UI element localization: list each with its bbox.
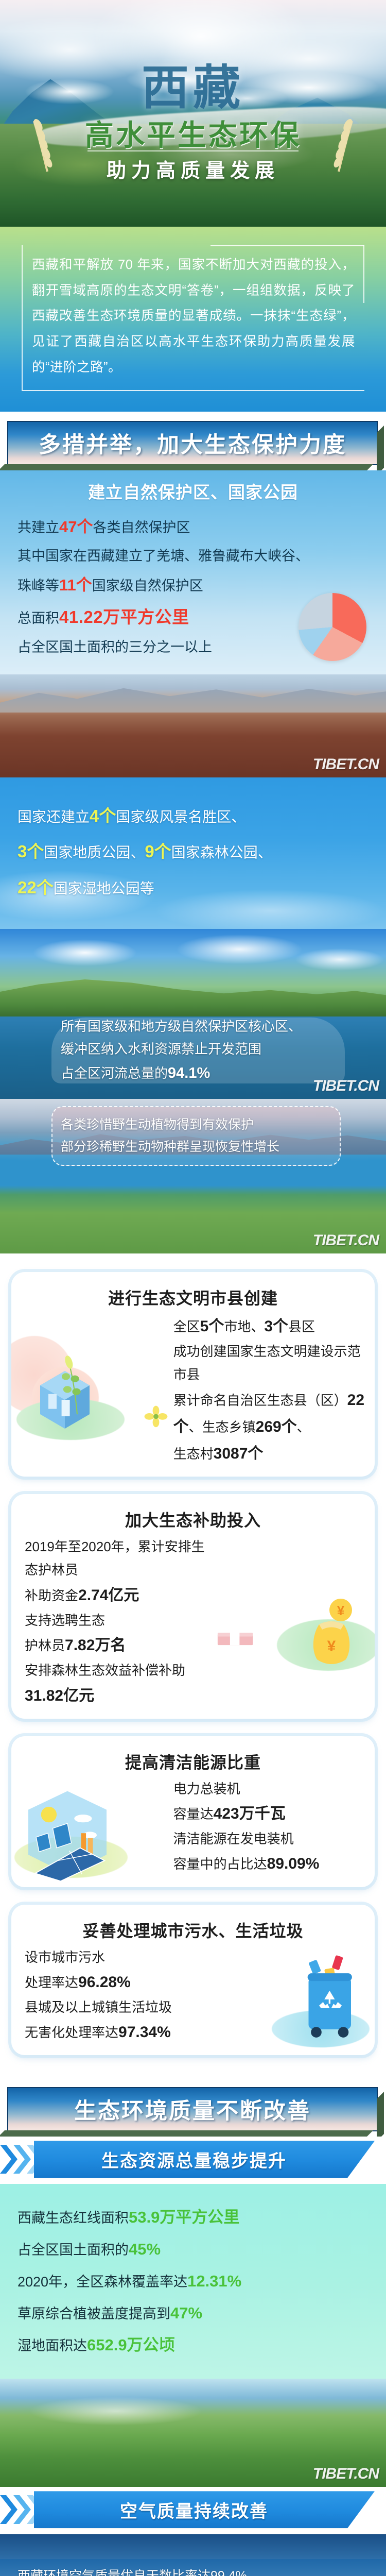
ribbon-resources: 生态资源总量稳步提升 (34, 2141, 375, 2178)
pie-slices (299, 593, 366, 661)
national-reserves-count: 11个 (59, 576, 92, 594)
grassland-label: 草原综合植被盖度提高到 (17, 2306, 170, 2321)
photo-cloud-sea: 西藏环境空气质量优良天数比率达99.4% 主要城镇环境空气质量优良率达95%以上… (0, 2534, 386, 2576)
reserves-area-label: 总面积 (17, 611, 59, 626)
card-energy-text: 电力总装机 容量达423万千瓦 清洁能源在发电装机 容量中的占比达89.09% (171, 1777, 375, 1887)
intro-paragraph: 西藏和平解放 70 年来，国家不断加大对西藏的投入，翻开雪域高原的生态文明“答卷… (32, 252, 355, 381)
reserves-count-value: 47个 (59, 518, 93, 536)
energy-line-2: 容量达423万千瓦 (173, 1801, 365, 1827)
water-block: 所有国家级和地方级自然保护区核心区、 缓冲区纳入水利资源禁止开发范围 占全区河流… (0, 929, 386, 1099)
wetland-value: 652.9万公顷 (87, 2336, 175, 2354)
parks-line-2: 3个国家地质公园、9个国家森林公园、 (0, 834, 386, 869)
subsidy-line-1: 2019年至2020年，累计安排生态护林员 (25, 1535, 205, 1582)
money-bag-icon: ¥ ¥ (301, 1598, 362, 1670)
card-energy-art (11, 1783, 171, 1881)
reserves-line-2: 其中国家在西藏建立了羌塘、雅鲁藏布大峡谷、 珠峰等11个国家级自然保护区 (0, 543, 386, 601)
water-line-1: 所有国家级和地方级自然保护区核心区、 (61, 1015, 336, 1038)
card-waste-title: 妥善处理城市污水、生活垃圾 (11, 1905, 375, 1946)
eco-towns-count: 269个 (256, 1418, 297, 1435)
infographic-page: 西藏 高水平生态环保 助力高质量发展 (0, 0, 386, 2576)
watermark-tibet-cn: TIBET.CN (313, 756, 379, 773)
card-waste-treatment: 妥善处理城市污水、生活垃圾 设市城市污水 处理率达96.28% 县城及以上城镇生… (11, 1905, 375, 2056)
ribbon-resources-wrap: 生态资源总量稳步提升 (0, 2137, 386, 2184)
eco-city-line3-mid: 、生态乡镇 (189, 1419, 256, 1435)
geoparks-count: 3个 (17, 842, 44, 861)
svg-text:¥: ¥ (327, 1638, 336, 1655)
redline-share-label: 占全区国土面积的 (17, 2242, 129, 2258)
energy-line-1: 电力总装机 (173, 1777, 365, 1801)
eco-city-prefectures: 5个 (200, 1318, 224, 1335)
eco-city-line-3: 累计命名自治区生态县（区）22个、生态乡镇269个、 (173, 1387, 365, 1440)
reserves-line1-pre: 共建立 (17, 520, 59, 535)
svg-text:¥: ¥ (337, 1603, 345, 1618)
eco-city-counties: 3个 (264, 1318, 288, 1335)
card-eco-city: 进行生态文明市县创建 (11, 1272, 375, 1477)
hero-tagline: 助力高质量发展 (0, 155, 386, 183)
energy-line-4: 容量中的占比达89.09% (173, 1851, 365, 1877)
subsidy-line-3: 支持选聘生态 (25, 1609, 205, 1632)
hero-banner: 西藏 高水平生态环保 助力高质量发展 (0, 0, 386, 227)
river-protection-percent: 94.1% (168, 1065, 210, 1081)
photo-wild-donkeys: TIBET.CN (0, 674, 386, 777)
eco-city-line4-pre: 生态村 (173, 1446, 214, 1462)
air-line-1: 西藏环境空气质量优良天数比率达99.4% (17, 2565, 369, 2576)
watermark-tibet-cn-2: TIBET.CN (313, 1077, 379, 1095)
subsidy-line2-pre: 补助资金 (25, 1588, 78, 1603)
wetland-label: 湿地面积达 (17, 2338, 87, 2353)
redline-share-value: 45% (129, 2240, 161, 2258)
card-subsidy-art: ¥ ¥ (215, 1578, 375, 1676)
grassland-value: 47% (170, 2304, 202, 2322)
ranger-count: 7.82万名 (65, 1637, 126, 1654)
eco-city-line1-mid: 市地、 (224, 1319, 264, 1334)
flower-icon (144, 1405, 168, 1430)
card-eco-city-title: 进行生态文明市县创建 (11, 1272, 375, 1313)
plant-sprout-icon (55, 1352, 100, 1417)
wildlife-block: 各类珍惜野生动植物得到有效保护 部分珍稀野生动物种群呈现恢复性增长 TIBET.… (0, 1099, 386, 1253)
card-eco-subsidy: 加大生态补助投入 2019年至2020年，累计安排生态护林员 补助资金2.74亿… (11, 1494, 375, 1719)
resources-line-3: 2020年，全区森林覆盖率达12.31% (0, 2265, 386, 2297)
eco-city-line-1: 全区5个市地、3个县区 (173, 1313, 365, 1340)
wetland-parks-count: 22个 (17, 878, 54, 897)
parks-line1-post: 国家级风景名胜区、 (116, 809, 245, 825)
ribbon-resources-text: 生态资源总量稳步提升 (101, 2147, 287, 2172)
section2-banner-wrap: 生态环境质量不断改善 (0, 2078, 386, 2137)
ribbon-air-wrap: 空气质量持续改善 (0, 2487, 386, 2534)
forest-cover-label: 2020年，全区森林覆盖率达 (17, 2274, 187, 2290)
waste-line-4: 无害化处理率达97.34% (25, 2019, 205, 2046)
reserves-line2-post: 国家级自然保护区 (92, 578, 203, 594)
energy-line-3: 清洁能源在发电装机 (173, 1827, 365, 1851)
wildlife-line-2: 部分珍稀野生动物种群呈现恢复性增长 (61, 1136, 331, 1158)
subsidy-line-4: 护林员7.82万名 (25, 1632, 205, 1659)
subsidy-line4-pre: 护林员 (25, 1638, 65, 1653)
reserves-pie-chart (299, 593, 366, 661)
section2-banner-text: 生态环境质量不断改善 (74, 2093, 311, 2125)
ribbon-air: 空气质量持续改善 (34, 2491, 375, 2528)
waste-line2-pre: 处理率达 (25, 1975, 78, 1990)
waste-line-2: 处理率达96.28% (25, 1969, 205, 1996)
forest-parks-count: 9个 (145, 842, 171, 861)
ribbon-air-text: 空气质量持续改善 (120, 2497, 268, 2522)
garbage-treatment-rate: 97.34% (118, 2024, 171, 2041)
waste-line-3: 县城及以上城镇生活垃圾 (25, 1996, 205, 2019)
section2-banner: 生态环境质量不断改善 (7, 2087, 378, 2131)
ranger-subsidy-amount: 2.74亿元 (78, 1587, 139, 1604)
card-eco-city-art (11, 1346, 171, 1444)
card-eco-city-text: 全区5个市地、3个县区 成功创建国家生态文明建设示范市县 累计命名自治区生态县（… (171, 1313, 375, 1477)
card-subsidy-title: 加大生态补助投入 (11, 1494, 375, 1535)
forest-compensation-amount: 31.82亿元 (25, 1687, 94, 1704)
resources-line-4: 草原综合植被盖度提高到47% (0, 2297, 386, 2329)
resources-line-5: 湿地面积达652.9万公顷 (0, 2329, 386, 2361)
card-energy-title: 提高清洁能源比重 (11, 1736, 375, 1777)
waste-line4-pre: 无害化处理率达 (25, 2025, 118, 2040)
intro-section: 西藏和平解放 70 年来，国家不断加大对西藏的投入，翻开雪域高原的生态文明“答卷… (0, 227, 386, 412)
total-capacity-value: 423万千瓦 (214, 1805, 286, 1822)
resources-block: 西藏生态红线面积53.9万平方公里 占全区国土面积的45% 2020年，全区森林… (0, 2184, 386, 2379)
reserves-line2-pre: 其中国家在西藏建立了羌塘、雅鲁藏布大峡谷、 (17, 548, 309, 564)
eco-city-line-2: 成功创建国家生态文明建设示范市县 (173, 1340, 365, 1386)
reserves-title: 建立自然保护区、国家公园 (0, 479, 386, 503)
reserves-line2-mid: 珠峰等 (17, 578, 59, 594)
scenic-areas-count: 4个 (90, 806, 116, 825)
wildlife-dashed-box: 各类珍惜野生动植物得到有效保护 部分珍稀野生动物种群呈现恢复性增长 (51, 1106, 341, 1166)
sewage-treatment-rate: 96.28% (78, 1974, 131, 1991)
section1-banner-text: 多措并举，加大生态保护力度 (39, 427, 346, 459)
hero-subtitle: 高水平生态环保 (0, 112, 386, 154)
watermark-tibet-cn-3: TIBET.CN (313, 1232, 379, 1249)
energy-line2-pre: 容量达 (173, 1806, 214, 1822)
water-glass-box: 所有国家级和地方级自然保护区核心区、 缓冲区纳入水利资源禁止开发范围 占全区河流… (51, 1018, 345, 1083)
reserves-line1-post: 各类自然保护区 (93, 520, 190, 535)
photo-grassland: TIBET.CN (0, 2379, 386, 2487)
water-line3-pre: 占全区河流总量的 (61, 1065, 168, 1081)
eco-city-line-4: 生态村3087个 (173, 1440, 365, 1467)
water-line-3: 占全区河流总量的94.1% (61, 1061, 336, 1086)
cards-section: 进行生态文明市县创建 (0, 1253, 386, 2078)
reserves-area-value: 41.22万平方公里 (59, 607, 189, 626)
redline-area-value: 53.9万平方公里 (129, 2208, 239, 2226)
parks-block: 国家还建立4个国家级风景名胜区、 3个国家地质公园、9个国家森林公园、 22个国… (0, 777, 386, 929)
energy-line4-pre: 容量中的占比达 (173, 1856, 267, 1872)
section1-banner: 多措并举，加大生态保护力度 (7, 421, 378, 465)
eco-city-line1-pre: 全区 (173, 1319, 200, 1334)
forest-cover-value: 12.31% (187, 2272, 241, 2290)
card-clean-energy: 提高清洁能源比重 (11, 1736, 375, 1887)
water-line-2: 缓冲区纳入水利资源禁止开发范围 (61, 1038, 336, 1060)
resources-line-2: 占全区国土面积的45% (0, 2233, 386, 2265)
parks-line3-post: 国家湿地公园等 (54, 880, 154, 896)
parks-line-3: 22个国家湿地公园等 (0, 870, 386, 905)
hero-divider (87, 150, 299, 151)
air-text-band: 西藏环境空气质量优良天数比率达99.4% 主要城镇环境空气质量优良率达95%以上… (0, 2559, 386, 2576)
redline-label: 西藏生态红线面积 (17, 2210, 129, 2226)
card-subsidy-text: 2019年至2020年，累计安排生态护林员 补助资金2.74亿元 支持选聘生态 … (11, 1535, 215, 1719)
eco-city-line3-tail: 、 (297, 1419, 310, 1435)
cash-stack-icon (217, 1630, 255, 1649)
parks-line-1: 国家还建立4个国家级风景名胜区、 (0, 798, 386, 834)
recycle-bin-icon (289, 1948, 366, 2046)
resources-line-1: 西藏生态红线面积53.9万平方公里 (0, 2201, 386, 2233)
subsidy-line5-pre: 安排森林生态效益补偿补助 (25, 1663, 185, 1678)
watermark-tibet-cn-4: TIBET.CN (313, 2465, 379, 2483)
intro-box: 西藏和平解放 70 年来，国家不断加大对西藏的投入，翻开雪域高原的生态文明“答卷… (22, 245, 364, 391)
card-waste-art (215, 1952, 375, 2049)
eco-villages-count: 3087个 (214, 1445, 264, 1462)
parks-line2-mid-a: 国家地质公园、 (44, 844, 145, 860)
parks-line2-mid-b: 国家森林公园、 (171, 844, 272, 860)
parks-line1-pre: 国家还建立 (17, 809, 90, 825)
reserves-block: 建立自然保护区、国家公园 共建立47个各类自然保护区 其中国家在西藏建立了羌塘、… (0, 470, 386, 675)
card-waste-text: 设市城市污水 处理率达96.28% 县城及以上城镇生活垃圾 无害化处理率达97.… (11, 1946, 215, 2056)
subsidy-line-5: 安排森林生态效益补偿补助31.82亿元 (25, 1659, 205, 1709)
eco-city-line3-pre: 累计命名自治区生态县（区） (173, 1393, 347, 1408)
section1-banner-wrap: 多措并举，加大生态保护力度 (0, 412, 386, 470)
wildlife-line-1: 各类珍惜野生动植物得到有效保护 (61, 1114, 331, 1136)
reserves-line-1: 共建立47个各类自然保护区 (0, 512, 386, 543)
subsidy-line-2: 补助资金2.74亿元 (25, 1582, 205, 1609)
waste-line-1: 设市城市污水 (25, 1946, 205, 1969)
clean-energy-share: 89.09% (267, 1855, 320, 1872)
eco-city-line1-post: 县区 (288, 1319, 315, 1334)
solar-panels-icon (19, 1786, 116, 1884)
